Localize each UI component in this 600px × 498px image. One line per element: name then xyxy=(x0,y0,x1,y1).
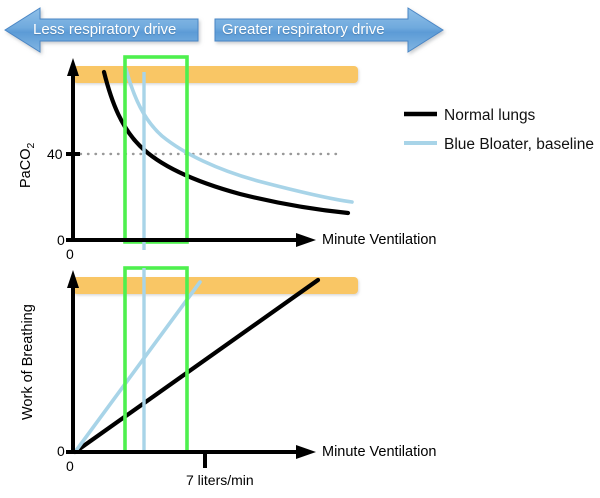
x-tick-label-0-bottom: 0 xyxy=(66,458,74,474)
curve-normal-lungs-paco2 xyxy=(104,72,348,213)
x-axis-arrowhead-bottom xyxy=(296,445,316,459)
respiratory-drive-figure xyxy=(0,0,600,493)
chart-work-of-breathing xyxy=(66,268,358,468)
legend-label-normal-lungs: Normal lungs xyxy=(444,107,535,125)
legend-label-blue-bloater: Blue Bloater, baseline xyxy=(444,136,594,154)
y-axis-label-paco2-text: PaCO2 xyxy=(18,143,34,188)
x-axis-label-bottom: Minute Ventilation xyxy=(322,444,436,460)
x-tick-label-7-bottom: 7 liters/min xyxy=(186,472,254,488)
figure-canvas: Less respiratory drive Greater respirato… xyxy=(0,0,600,493)
banner-left-label: Less respiratory drive xyxy=(33,21,176,38)
x-tick-label-0-top: 0 xyxy=(66,246,74,262)
y-tick-label-0-bottom: 0 xyxy=(57,443,65,459)
curve-blue-bloater-paco2 xyxy=(126,69,352,202)
banner-right-label: Greater respiratory drive xyxy=(222,21,385,38)
danger-band-top xyxy=(73,66,358,83)
legend xyxy=(404,114,437,143)
y-axis-label-work-of-breathing: Work of Breathing xyxy=(20,304,36,420)
y-tick-label-40-top: 40 xyxy=(47,146,63,162)
x-axis-arrowhead-top xyxy=(296,233,316,247)
chart-paco2 xyxy=(66,57,358,250)
x-axis-label-top: Minute Ventilation xyxy=(322,232,436,248)
y-axis-label-paco2: PaCO2 xyxy=(18,143,37,188)
line-blue-bloater-wob xyxy=(75,282,200,452)
target-ventilation-box-top xyxy=(125,57,187,242)
target-ventilation-box-bottom xyxy=(125,268,187,452)
line-normal-lungs-wob xyxy=(75,280,318,452)
y-tick-label-0-top: 0 xyxy=(57,232,65,248)
